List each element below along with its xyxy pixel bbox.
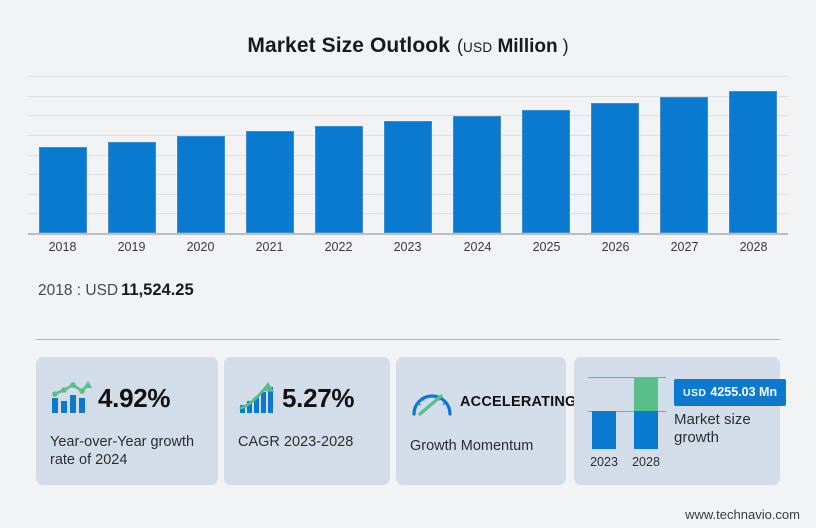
market-size-growth-badge: USD4255.03 Mn	[674, 379, 786, 406]
card-value: 4.92%	[98, 385, 170, 411]
bar-chart-arrow-up-icon	[238, 381, 276, 415]
chart-x-label-2026: 2026	[581, 240, 650, 254]
page-title-main: Market Size Outlook	[247, 34, 450, 57]
mini-bar-2023	[592, 393, 616, 449]
metric-card-growth-momentum[interactable]: ACCELERATING Growth Momentum	[396, 357, 566, 485]
card-caption: Market size growth	[674, 411, 774, 448]
callout-value: 11,524.25	[121, 281, 194, 299]
page-title-unit-big: Million	[497, 36, 557, 57]
chart-x-label-2021: 2021	[235, 240, 304, 254]
mini-bar-2028	[634, 373, 658, 449]
chart-x-label-2023: 2023	[373, 240, 442, 254]
chart-bar-2023[interactable]	[384, 121, 432, 233]
card-caption: Year-over-Year growth rate of 2024	[50, 433, 210, 470]
chart-bars	[28, 76, 788, 233]
metric-cards: 4.92% Year-over-Year growth rate of 2024	[0, 357, 816, 485]
chart-bar-2027[interactable]	[660, 97, 708, 233]
mini-bar-chart-icon: 2023 2028	[588, 373, 666, 469]
card-value-row: 5.27%	[238, 381, 354, 415]
chart-bar-2022[interactable]	[315, 126, 363, 233]
chart-bar-2021[interactable]	[246, 131, 294, 233]
chart-bar-2025[interactable]	[522, 110, 570, 233]
chart-x-axis	[28, 233, 788, 235]
mini-bar-2028-base	[634, 411, 658, 449]
chart-x-label-2022: 2022	[304, 240, 373, 254]
chart-x-label-2019: 2019	[97, 240, 166, 254]
metric-card-cagr[interactable]: 5.27% CAGR 2023-2028	[224, 357, 390, 485]
chart-x-label-2020: 2020	[166, 240, 235, 254]
metric-card-market-size-growth[interactable]: 2023 2028 USD4255.03 Mn Market size grow…	[574, 357, 780, 485]
badge-unit: USD	[683, 387, 706, 399]
metric-card-yoy-growth[interactable]: 4.92% Year-over-Year growth rate of 2024	[36, 357, 218, 485]
mini-label-2023: 2023	[584, 455, 624, 469]
mini-bar-2028-growth	[634, 377, 658, 411]
chart-x-label-2018: 2018	[28, 240, 97, 254]
mini-label-2028: 2028	[626, 455, 666, 469]
chart-x-label-2024: 2024	[443, 240, 512, 254]
card-value-row: 4.92%	[50, 381, 170, 415]
chart-bar-2028[interactable]	[729, 91, 777, 233]
market-size-outlook-infographic: Market Size Outlook(USD Million ) 201820…	[0, 0, 816, 528]
chart-bar-2026[interactable]	[591, 103, 639, 233]
bar-chart-trend-up-icon	[50, 381, 92, 415]
chart-x-label-2028: 2028	[719, 240, 788, 254]
chart-bar-2019[interactable]	[108, 142, 156, 233]
chart-value-callout: 2018 : USD11,524.25	[38, 281, 194, 300]
chart-bar-2020[interactable]	[177, 136, 225, 233]
card-caption: Growth Momentum	[410, 437, 558, 455]
page-title-paren-close: )	[563, 36, 569, 56]
badge-value: 4255.03 Mn	[710, 385, 777, 399]
page-title: Market Size Outlook(USD Million )	[0, 34, 816, 58]
chart-x-label-2025: 2025	[512, 240, 581, 254]
footer-url[interactable]: www.technavio.com	[685, 507, 800, 522]
card-value: 5.27%	[282, 385, 354, 411]
section-divider	[36, 339, 780, 340]
chart-bar-2018[interactable]	[39, 147, 87, 233]
mini-bar-2023-base	[592, 411, 616, 449]
chart-bar-2024[interactable]	[453, 116, 501, 233]
page-title-unit-small: USD	[463, 40, 492, 55]
chart-x-tick-labels: 2018201920202021202220232024202520262027…	[28, 240, 788, 262]
speedometer-gauge-icon	[410, 387, 454, 417]
card-value: ACCELERATING	[460, 395, 577, 410]
callout-prefix: 2018 : USD	[38, 282, 118, 299]
card-value-row: ACCELERATING	[410, 387, 577, 417]
chart-x-label-2027: 2027	[650, 240, 719, 254]
card-caption: CAGR 2023-2028	[238, 433, 382, 451]
